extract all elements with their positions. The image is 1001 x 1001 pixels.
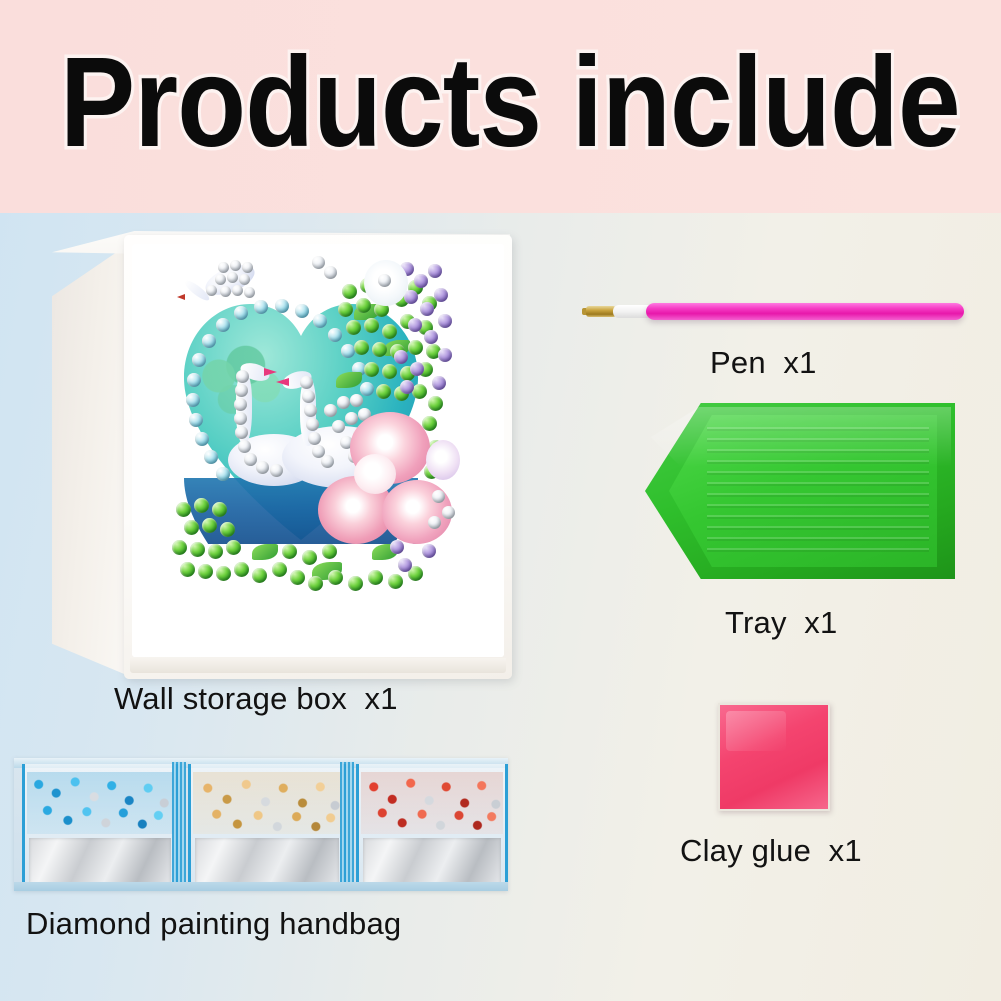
clay-glue-highlight — [726, 711, 786, 751]
product-pen: Pen x1 — [580, 283, 990, 403]
red-rhinestones — [361, 772, 503, 834]
clay-glue-square — [718, 703, 830, 811]
product-infographic: Products include — [0, 0, 1001, 1001]
foil-label-blue — [29, 838, 171, 885]
caption-clay-glue: Clay glue x1 — [680, 833, 862, 869]
box-front-lip — [130, 658, 506, 673]
box-artwork-panel — [132, 244, 504, 657]
drill-pocket-red — [356, 764, 508, 885]
pen-metal-tip — [586, 306, 616, 317]
page-title: Products include — [60, 28, 941, 178]
blue-rhinestones — [27, 772, 173, 834]
zip-strip-2 — [340, 762, 354, 887]
foil-label-gold — [195, 838, 339, 885]
handbag-image — [14, 758, 508, 891]
caption-tray: Tray x1 — [725, 605, 837, 641]
tray-highlight — [651, 407, 951, 467]
caption-diamond-painting-handbag: Diamond painting handbag — [26, 906, 401, 942]
foil-label-red — [363, 838, 501, 885]
caption-wall-storage-box: Wall storage box x1 — [114, 681, 398, 717]
product-diamond-painting-handbag: Diamond painting handbag — [14, 758, 514, 958]
products-body: Wall storage box x1 — [0, 213, 1001, 1001]
drill-pocket-gold — [188, 764, 346, 885]
product-clay-glue: Clay glue x1 — [680, 703, 980, 923]
drill-pocket-blue — [22, 764, 178, 885]
product-wall-storage-box: Wall storage box x1 — [44, 213, 524, 713]
handbag-bottom-band — [14, 882, 508, 891]
swan-heart-artwork — [132, 244, 504, 657]
caption-pen: Pen x1 — [710, 345, 817, 381]
gold-rhinestones — [193, 772, 341, 834]
zip-strip-1 — [172, 762, 186, 887]
pen-barrel — [646, 303, 964, 320]
header-banner: Products include — [0, 0, 1001, 213]
box-front-face — [124, 235, 512, 679]
product-tray: Tray x1 — [625, 403, 985, 693]
